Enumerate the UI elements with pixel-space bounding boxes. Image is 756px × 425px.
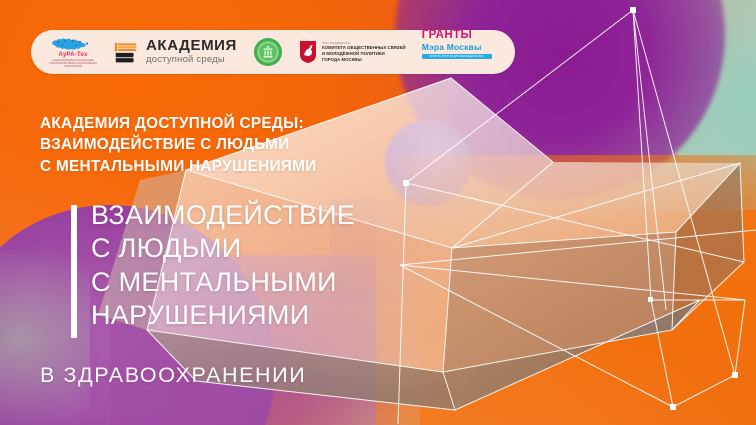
logo-mayor-grants: ГРАНТЫ Мэра Москвы КОНКУРС ГРАНТОВ ДЛЯ Н… <box>422 30 492 74</box>
sponsor-logo-bar: АуРА-Тех НАЦИОНАЛЬНАЯ АССОЦИАЦИЯ УЧАСТНИ… <box>31 30 515 74</box>
logo-moscow-government: ПРИ ПОДДЕРЖКЕ КОМИТЕТА ОБЩЕСТВЕННЫХ СВЯЗ… <box>299 30 406 74</box>
moscow-coat-of-arms-icon <box>299 40 317 64</box>
poster-canvas: АуРА-Тех НАЦИОНАЛЬНАЯ АССОЦИАЦИЯ УЧАСТНИ… <box>0 0 756 425</box>
russia-map-icon <box>50 36 96 51</box>
program-title-line-2: ВЗАИМОДЕЙСТВИЕ С ЛЮДЬМИ <box>40 134 420 155</box>
aura-subtitle: НАЦИОНАЛЬНАЯ АССОЦИАЦИЯ УЧАСТНИКОВ РЫНКА… <box>44 59 102 69</box>
academy-title: АКАДЕМИЯ <box>146 38 237 53</box>
logo-green-seal <box>253 30 283 74</box>
grants-line-3: КОНКУРС ГРАНТОВ ДЛЯ НЕКОММЕРЧЕСКИХ ОРГАН… <box>422 54 492 59</box>
moscow-line-3: ГОРОДА МОСКВЫ <box>322 57 406 63</box>
grants-line-1: ГРАНТЫ <box>422 30 472 42</box>
headline-line-2: С ЛЮДЬМИ <box>91 232 421 265</box>
aura-name: АуРА-Тех <box>58 52 87 58</box>
program-title-line-1: АКАДЕМИЯ ДОСТУПНОЙ СРЕДЫ: <box>40 113 420 134</box>
headline-accent-bar <box>71 205 77 338</box>
program-title-line-3: С МЕНТАЛЬНЫМИ НАРУШЕНИЯМИ <box>40 156 420 177</box>
green-seal-icon <box>253 37 283 67</box>
headline-line-4: НАРУШЕНИЯМИ <box>91 299 421 332</box>
program-title: АКАДЕМИЯ ДОСТУПНОЙ СРЕДЫ: ВЗАИМОДЕЙСТВИЕ… <box>40 113 420 177</box>
headline-line-1: ВЗАИМОДЕЙСТВИЕ <box>91 199 421 232</box>
logo-academy: АКАДЕМИЯ доступной среды <box>114 30 237 74</box>
books-icon <box>114 39 140 65</box>
logo-aura-teh: АуРА-Тех НАЦИОНАЛЬНАЯ АССОЦИАЦИЯ УЧАСТНИ… <box>42 30 104 74</box>
headline-line-3: С МЕНТАЛЬНЫМИ <box>91 266 421 299</box>
headline: ВЗАИМОДЕЙСТВИЕ С ЛЮДЬМИ С МЕНТАЛЬНЫМИ НА… <box>91 199 421 332</box>
academy-subtitle: доступной среды <box>146 54 237 66</box>
subheadline: В ЗДРАВООХРАНЕНИИ <box>40 363 306 388</box>
grants-line-2: Мэра Москвы <box>422 43 482 52</box>
